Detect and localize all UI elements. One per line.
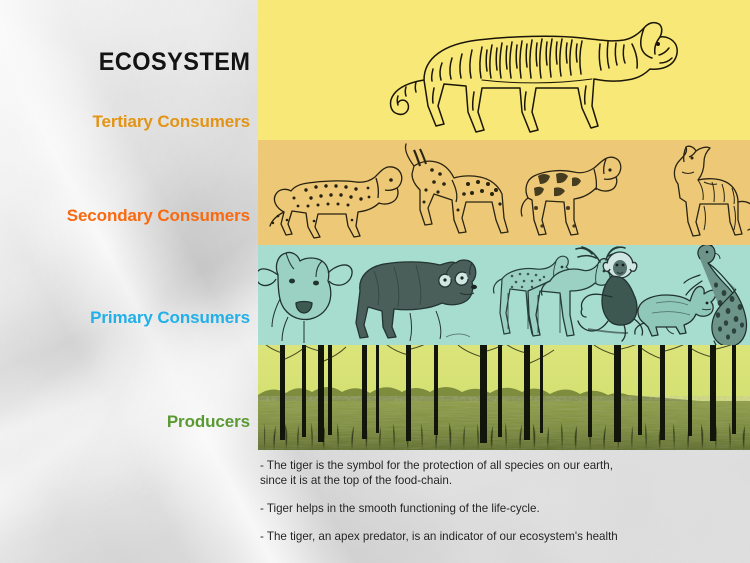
tier-label-primary-consumers: Primary Consumers: [90, 308, 250, 328]
wild-dog-figure: [521, 157, 621, 235]
band-secondary-consumers: [258, 140, 750, 245]
band-primary-consumers: [258, 245, 750, 345]
secondary-consumers-illustration: [258, 140, 750, 245]
rabbit-figure: [635, 286, 716, 336]
hyena-figure: [405, 144, 508, 233]
band-tertiary-consumers: [258, 0, 750, 140]
bear-figure: [356, 260, 477, 341]
monkey-figure: [578, 252, 643, 341]
tier-label-column: ECOSYSTEM Tertiary Consumers Secondary C…: [0, 0, 258, 450]
slide-root: ECOSYSTEM Tertiary Consumers Secondary C…: [0, 0, 750, 563]
food-chain-bands: [258, 0, 750, 450]
tier-label-tertiary-consumers: Tertiary Consumers: [92, 112, 250, 132]
pine-forest-grassland-photo: [258, 345, 750, 450]
buffalo-figure: [258, 252, 352, 343]
page-title: ECOSYSTEM: [98, 48, 250, 77]
tiger-illustration: [258, 0, 750, 140]
note-bullet: - The tiger is the symbol for the protec…: [260, 458, 730, 488]
primary-consumers-illustration: [258, 245, 750, 345]
band-producers: [258, 345, 750, 450]
leopard-figure: [270, 167, 402, 238]
wolf-figure: [674, 146, 750, 236]
note-bullet: - Tiger helps in the smooth functioning …: [260, 501, 730, 516]
tier-label-producers: Producers: [167, 412, 250, 432]
note-bullet: - The tiger, an apex predator, is an ind…: [260, 529, 730, 544]
tier-label-secondary-consumers: Secondary Consumers: [67, 206, 250, 226]
notes-list: - The tiger is the symbol for the protec…: [260, 458, 730, 544]
